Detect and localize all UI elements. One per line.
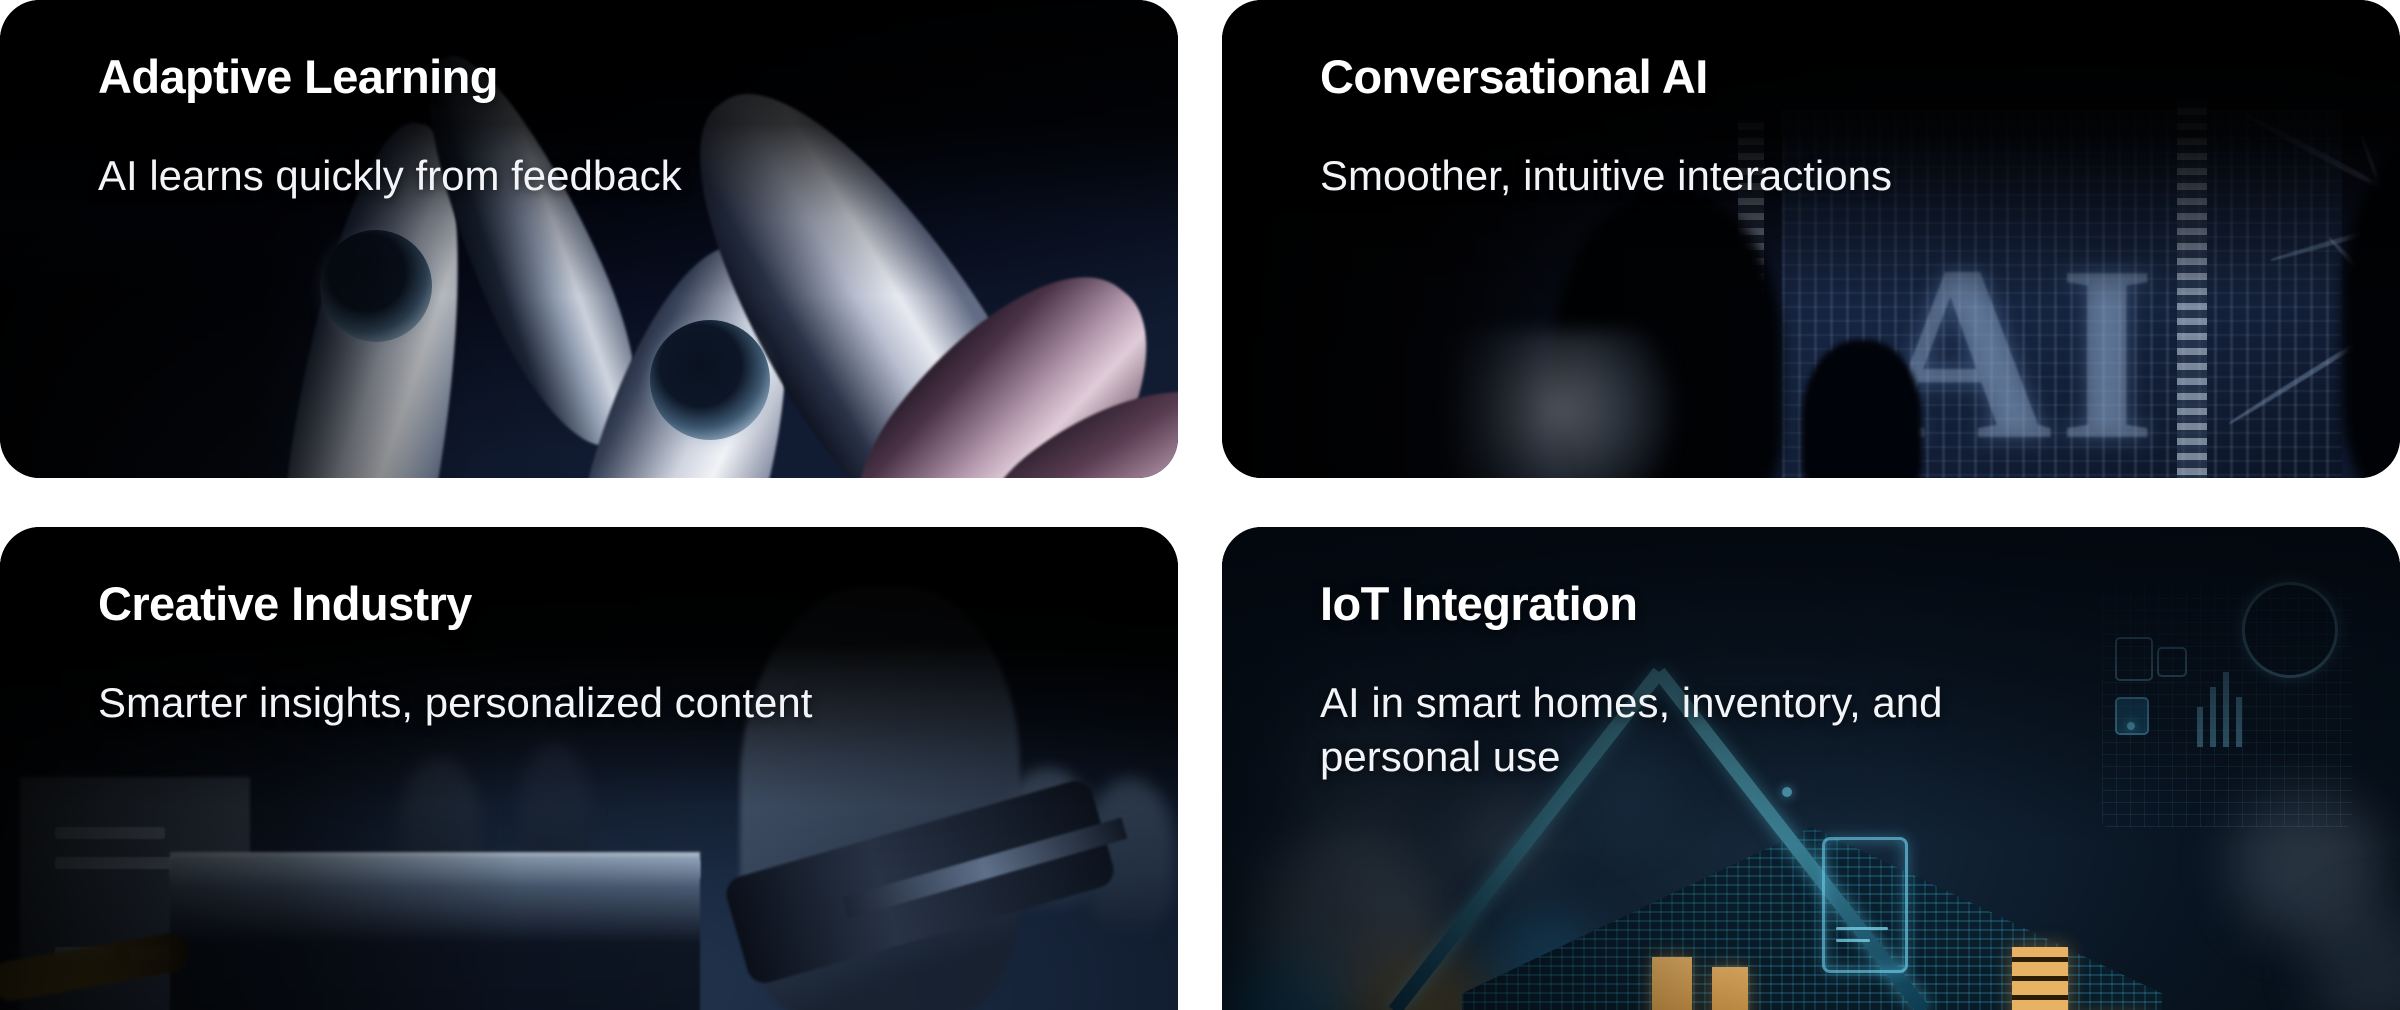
feature-card-adaptive-learning[interactable]: Adaptive Learning AI learns quickly from… xyxy=(0,0,1178,478)
card-description: AI in smart homes, inventory, and person… xyxy=(1320,676,2060,785)
card-title: Adaptive Learning xyxy=(98,52,1114,103)
feature-card-iot-integration[interactable]: IoT Integration AI in smart homes, inven… xyxy=(1222,527,2400,1010)
card-content: IoT Integration AI in smart homes, inven… xyxy=(1222,527,2400,785)
feature-card-conversational-ai[interactable]: AI Conversational AI Smoother, intuitive… xyxy=(1222,0,2400,478)
card-description: Smarter insights, personalized content xyxy=(98,676,838,731)
card-description: Smoother, intuitive interactions xyxy=(1320,149,2060,204)
card-title: IoT Integration xyxy=(1320,579,2336,630)
card-description: AI learns quickly from feedback xyxy=(98,149,838,204)
feature-card-grid: Adaptive Learning AI learns quickly from… xyxy=(0,0,2400,1010)
card-content: Conversational AI Smoother, intuitive in… xyxy=(1222,0,2400,203)
card-content: Adaptive Learning AI learns quickly from… xyxy=(0,0,1178,203)
card-title: Conversational AI xyxy=(1320,52,2336,103)
card-content: Creative Industry Smarter insights, pers… xyxy=(0,527,1178,730)
card-title: Creative Industry xyxy=(98,579,1114,630)
feature-card-creative-industry[interactable]: Creative Industry Smarter insights, pers… xyxy=(0,527,1178,1010)
